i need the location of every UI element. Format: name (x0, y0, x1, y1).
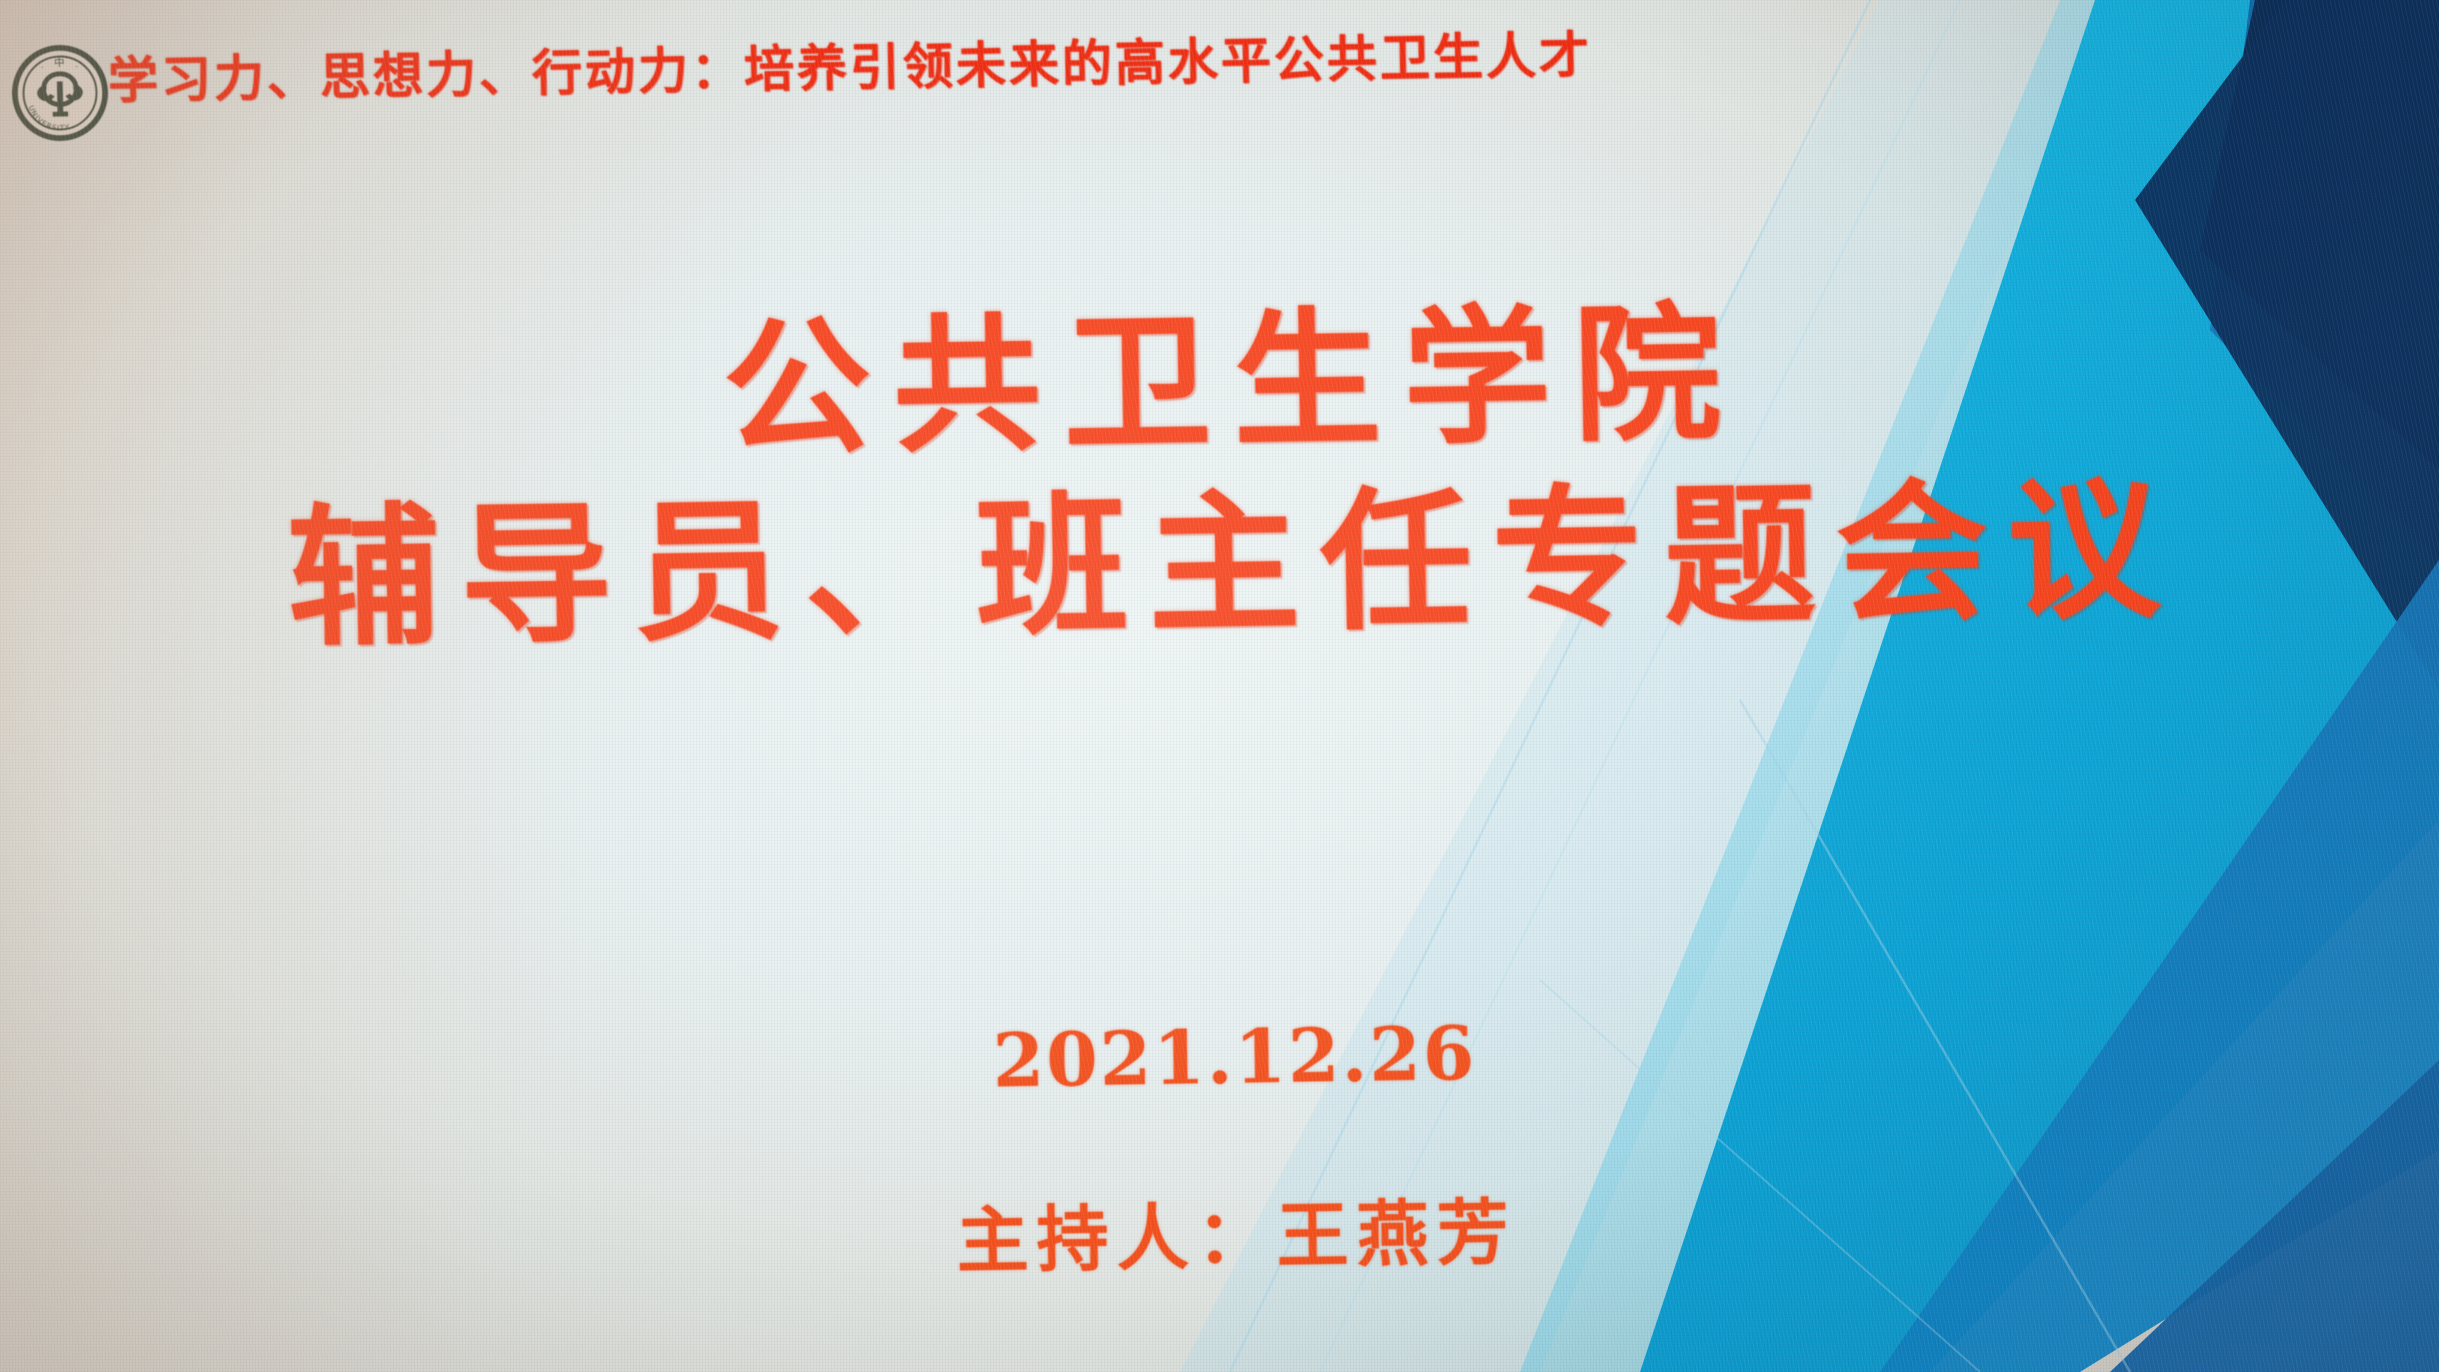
svg-text:中: 中 (54, 56, 65, 69)
university-seal-icon: 中 · · UNIVERSITY (11, 44, 109, 142)
slide-title-line-1: 公共卫生学院 (0, 281, 2439, 485)
svg-text:·: · (75, 63, 78, 73)
slide-title-line-2: 辅导员、班主任专题会议 (0, 461, 2439, 670)
slide-banner-slogan: 学习力、思想力、行动力：培养引领未来的高水平公共卫生人才 (108, 25, 1809, 107)
slide-content: 中 · · UNIVERSITY 学习力、思想力、行动力：培养引领未来的高水平公… (0, 0, 2439, 1372)
svg-text:·: · (41, 63, 44, 73)
slide-host: 主持人：王燕芳 (0, 1159, 2439, 1302)
slide-title-block: 公共卫生学院 辅导员、班主任专题会议 (0, 281, 2439, 669)
projected-slide-photo: 中 · · UNIVERSITY 学习力、思想力、行动力：培养引领未来的高水平公… (0, 0, 2439, 1372)
slide-date: 2021.12.26 (0, 996, 2439, 1120)
